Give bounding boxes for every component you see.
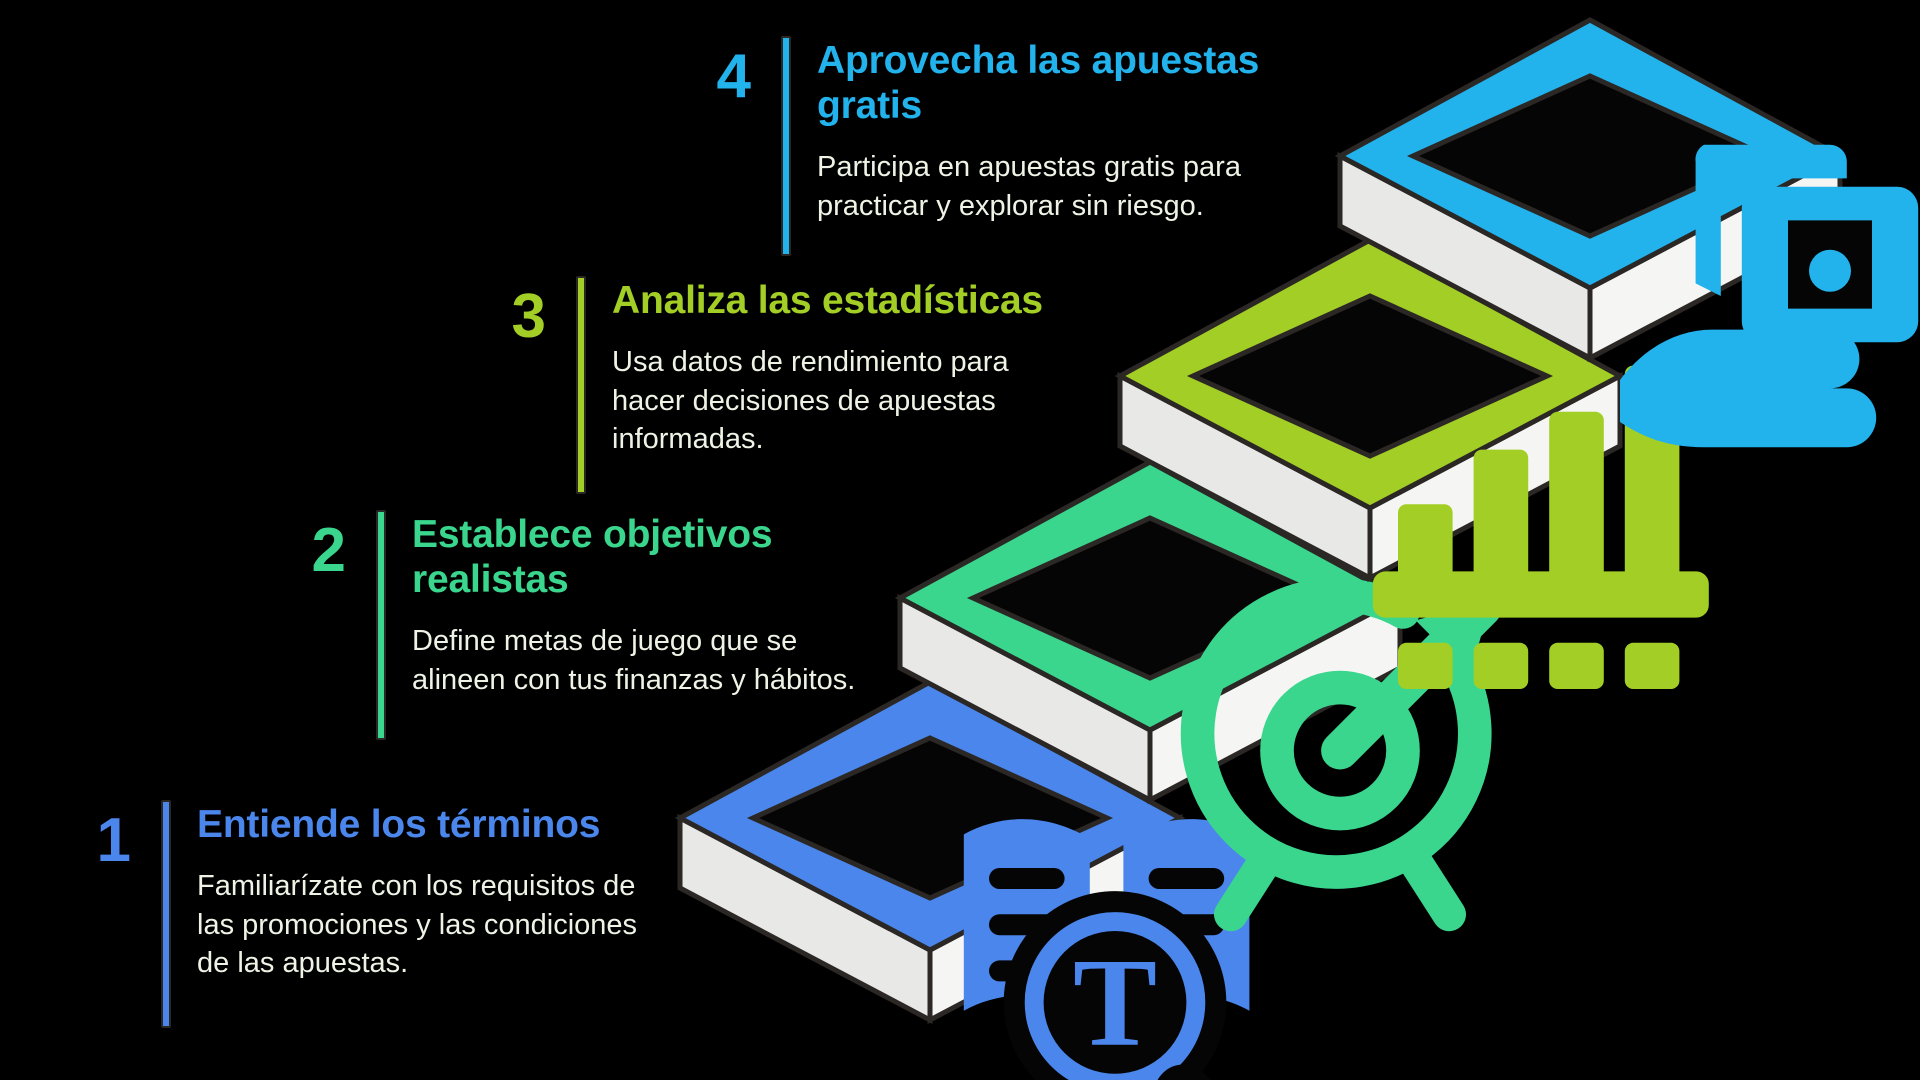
step-title-1: Entiende los términos [197, 802, 675, 847]
step-number-3: 3 [450, 276, 546, 348]
step-item-3: 3 Analiza las estadísticas Usa datos de … [450, 276, 1070, 494]
step-description-1: Familiarízate con los requisitos de las … [197, 867, 675, 983]
step-description-3: Usa datos de rendimiento para hacer deci… [612, 343, 1070, 459]
infographic-canvas: T [0, 0, 1920, 1080]
step-description-2: Define metas de juego que se alineen con… [412, 622, 870, 699]
stair-block-4 [1330, 0, 1850, 378]
step-text-1: Entiende los términos Familiarízate con … [197, 800, 675, 983]
step-title-4: Aprovecha las apuestas gratis [817, 38, 1295, 128]
step-accent-bar-4 [781, 36, 791, 256]
step-number-1: 1 [35, 800, 131, 872]
step-title-2: Establece objetivos realistas [412, 512, 870, 602]
step-title-3: Analiza las estadísticas [612, 278, 1070, 323]
step-number-2: 2 [250, 510, 346, 582]
step-text-2: Establece objetivos realistas Define met… [412, 510, 870, 700]
step-description-4: Participa en apuestas gratis para practi… [817, 148, 1295, 225]
step-item-1: 1 Entiende los términos Familiarízate co… [35, 800, 675, 1028]
step-accent-bar-3 [576, 276, 586, 494]
step-accent-bar-2 [376, 510, 386, 740]
step-text-4: Aprovecha las apuestas gratis Participa … [817, 36, 1295, 226]
step-number-4: 4 [655, 36, 751, 108]
step-item-2: 2 Establece objetivos realistas Define m… [250, 510, 870, 740]
step-item-4: 4 Aprovecha las apuestas gratis Particip… [655, 36, 1295, 256]
step-text-3: Analiza las estadísticas Usa datos de re… [612, 276, 1070, 459]
step-accent-bar-1 [161, 800, 171, 1028]
